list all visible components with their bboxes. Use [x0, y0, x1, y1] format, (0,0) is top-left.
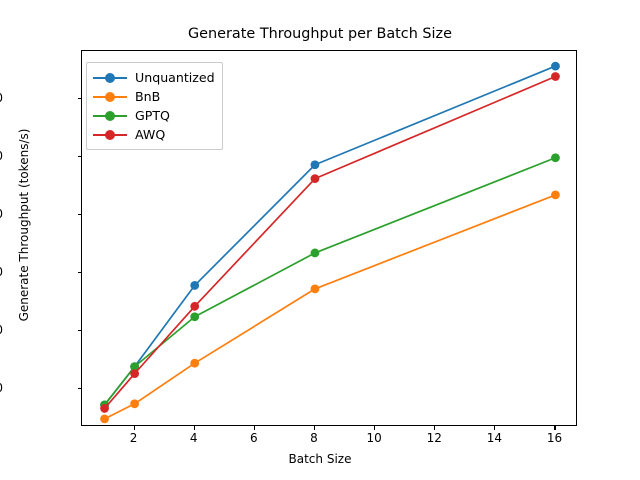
x-axis-label: Batch Size: [0, 452, 640, 466]
data-point-marker: [100, 404, 109, 413]
legend-dot-icon: [105, 92, 115, 102]
data-point-marker: [190, 281, 199, 290]
data-point-marker: [551, 72, 560, 81]
legend-item: AWQ: [93, 125, 215, 144]
x-tick-mark: [374, 426, 375, 430]
data-point-marker: [190, 302, 199, 311]
y-tick-mark: [78, 330, 82, 331]
x-tick-mark: [134, 426, 135, 430]
x-tick-mark: [554, 426, 555, 430]
y-tick-label: 300: [0, 91, 3, 105]
series-bnb: [100, 191, 560, 424]
legend-marker-icon: [93, 71, 127, 85]
y-tick-label: 200: [0, 207, 3, 221]
data-point-marker: [551, 153, 560, 162]
x-tick-mark: [494, 426, 495, 430]
x-tick-label: 16: [547, 431, 562, 445]
legend-marker-icon: [93, 128, 127, 142]
chart-title: Generate Throughput per Batch Size: [0, 26, 640, 42]
data-point-marker: [100, 414, 109, 423]
legend: UnquantizedBnBGPTQAWQ: [86, 62, 223, 150]
data-point-marker: [130, 399, 139, 408]
data-point-marker: [551, 191, 560, 200]
y-tick-mark: [78, 272, 82, 273]
data-point-marker: [311, 160, 320, 169]
x-tick-mark: [314, 426, 315, 430]
y-axis-tick-labels: 50100150200250300: [0, 0, 70, 480]
data-point-marker: [551, 62, 560, 71]
matplotlib-figure: Generate Throughput per Batch Size Gener…: [0, 0, 640, 480]
x-tick-label: 4: [190, 431, 198, 445]
legend-label: BnB: [135, 89, 160, 104]
legend-dot-icon: [105, 73, 115, 83]
series-line: [105, 195, 556, 419]
x-axis-tick-labels: 246810121416: [0, 431, 640, 451]
data-point-marker: [130, 369, 139, 378]
x-tick-label: 2: [130, 431, 138, 445]
legend-item: Unquantized: [93, 68, 215, 87]
data-point-marker: [311, 249, 320, 258]
legend-item: GPTQ: [93, 106, 215, 125]
y-tick-mark: [78, 98, 82, 99]
legend-dot-icon: [105, 130, 115, 140]
series-gptq: [100, 153, 560, 409]
y-tick-mark: [78, 214, 82, 215]
x-tick-label: 12: [427, 431, 442, 445]
x-tick-label: 10: [366, 431, 381, 445]
legend-label: AWQ: [135, 127, 165, 142]
x-tick-label: 14: [487, 431, 502, 445]
data-point-marker: [311, 285, 320, 294]
data-point-marker: [311, 174, 320, 183]
data-point-marker: [190, 312, 199, 321]
y-tick-mark: [78, 388, 82, 389]
legend-dot-icon: [105, 111, 115, 121]
x-tick-label: 6: [250, 431, 258, 445]
x-tick-label: 8: [310, 431, 318, 445]
legend-marker-icon: [93, 109, 127, 123]
y-tick-label: 150: [0, 265, 3, 279]
series-line: [105, 158, 556, 405]
data-point-marker: [190, 359, 199, 368]
legend-label: Unquantized: [135, 70, 215, 85]
x-tick-mark: [194, 426, 195, 430]
legend-label: GPTQ: [135, 108, 170, 123]
x-tick-mark: [254, 426, 255, 430]
legend-marker-icon: [93, 90, 127, 104]
y-tick-mark: [78, 156, 82, 157]
x-tick-mark: [434, 426, 435, 430]
y-tick-label: 100: [0, 323, 3, 337]
y-tick-label: 50: [0, 381, 3, 395]
legend-item: BnB: [93, 87, 215, 106]
y-tick-label: 250: [0, 149, 3, 163]
